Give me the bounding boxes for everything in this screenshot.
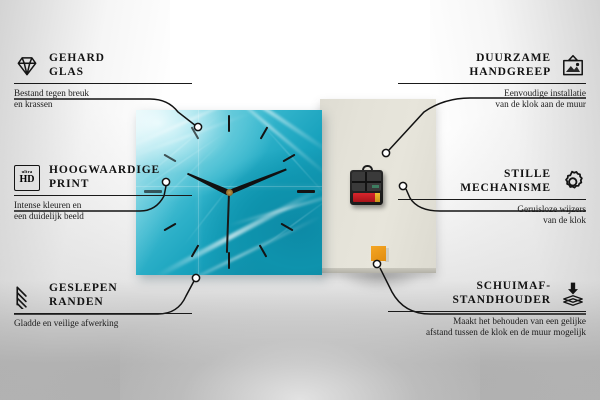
feature-subtitle: Geruisloze wijzers xyxy=(396,204,586,216)
feature-title-line2: GLAS xyxy=(49,66,105,80)
clock-tick-11 xyxy=(191,126,200,139)
feature-subtitle: Bestand tegen breuk xyxy=(14,88,194,100)
feature-title-line2: PRINT xyxy=(49,178,160,192)
clock-tick-2 xyxy=(282,154,295,163)
diamond-icon xyxy=(14,53,40,79)
feature-duurzame-handgreep: DUURZAME HANDGREEP Eenvoudige installati… xyxy=(396,52,586,111)
glass-reflection-line-vertical xyxy=(198,110,199,275)
picture-frame-icon xyxy=(560,53,586,79)
feature-subtitle: Gladde en veilige afwerking xyxy=(14,318,194,330)
movement-housing xyxy=(352,172,381,191)
feature-divider xyxy=(14,83,192,84)
clock-tick-6 xyxy=(228,252,230,269)
feature-stille-mechanisme: STILLE MECHANISME Geruisloze wijzers van… xyxy=(396,168,586,227)
back-panel-bottom-edge xyxy=(320,268,436,273)
feature-subtitle-line2: een duidelijk beeld xyxy=(14,211,194,223)
feature-title-line2: HANDGREEP xyxy=(469,66,551,80)
feature-gehard-glas: GEHARD GLAS Bestand tegen breuk en krass… xyxy=(14,52,194,111)
feature-divider xyxy=(398,199,586,200)
clock-tick-3 xyxy=(297,190,315,193)
ultra-hd-icon-main-text: HD xyxy=(20,175,35,185)
clock-tick-1 xyxy=(260,126,269,139)
feature-title-line2: MECHANISME xyxy=(460,182,551,196)
feature-subtitle-line2: afstand tussen de klok en de muur mogeli… xyxy=(386,327,586,339)
ultra-hd-icon: ultra HD xyxy=(14,165,40,191)
feature-title-line2: STANDHOUDER xyxy=(452,294,551,308)
feature-divider xyxy=(398,83,586,84)
callout-dot-edges xyxy=(192,274,199,281)
feature-subtitle-line2: en krassen xyxy=(14,99,194,111)
clock-tick-10 xyxy=(163,154,176,163)
feature-schuimafstandhouder: SCHUIMAF- STANDHOUDER Maakt het behouden… xyxy=(386,280,586,339)
feature-divider xyxy=(14,195,192,196)
feature-subtitle-line2: van de klok xyxy=(396,215,586,227)
beveled-edges-icon xyxy=(14,283,40,309)
feature-geslepen-randen: GESLEPEN RANDEN Gladde en veilige afwerk… xyxy=(14,282,194,329)
feature-title-line2: RANDEN xyxy=(49,296,118,310)
clock-tick-7 xyxy=(191,244,200,257)
clock-tick-5 xyxy=(259,244,268,257)
feature-subtitle: Intense kleuren en xyxy=(14,200,194,212)
clock-movement xyxy=(350,170,383,205)
feature-subtitle-line2: van de klok aan de muur xyxy=(396,99,586,111)
product-infographic: GEHARD GLAS Bestand tegen breuk en krass… xyxy=(0,0,600,400)
feature-title: GESLEPEN xyxy=(49,282,118,296)
clock-minute-hand xyxy=(228,167,287,195)
feature-subtitle: Maakt het behouden van een gelijke xyxy=(386,316,586,328)
feature-divider xyxy=(14,313,192,314)
feature-title: SCHUIMAF- xyxy=(452,280,551,294)
feature-subtitle: Eenvoudige installatie xyxy=(396,88,586,100)
feature-hoogwaardige-print: ultra HD HOOGWAARDIGE PRINT Intense kleu… xyxy=(14,164,194,223)
battery-terminal xyxy=(375,193,380,202)
movement-marking xyxy=(372,185,379,188)
foam-spacer-icon xyxy=(560,281,586,307)
clock-tick-4 xyxy=(280,223,293,232)
foam-spacer xyxy=(371,246,386,261)
feature-divider xyxy=(388,311,586,312)
gear-icon xyxy=(560,169,586,195)
clock-second-hand xyxy=(226,192,230,252)
feature-title: DUURZAME xyxy=(469,52,551,66)
feature-title: HOOGWAARDIGE xyxy=(49,164,160,178)
clock-tick-8 xyxy=(163,223,176,232)
clock-center-cap xyxy=(226,189,233,196)
feature-title: STILLE xyxy=(460,168,551,182)
feature-title: GEHARD xyxy=(49,52,105,66)
clock-tick-12 xyxy=(228,115,230,132)
